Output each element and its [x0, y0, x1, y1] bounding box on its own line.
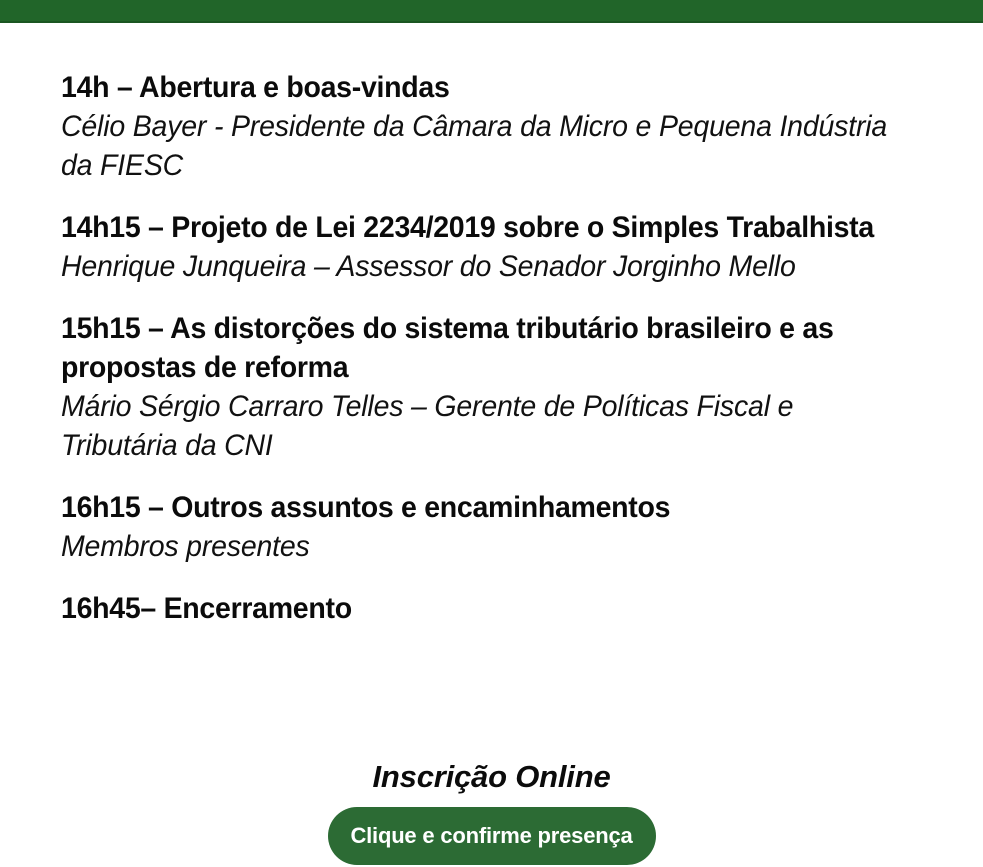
signup-section: Inscrição Online Clique e confirme prese… [0, 758, 983, 865]
confirm-attendance-button[interactable]: Clique e confirme presença [328, 807, 656, 865]
agenda-item-title: 14h15 – Projeto de Lei 2234/2019 sobre o… [61, 208, 897, 247]
agenda-item-speaker: Henrique Junqueira – Assessor do Senador… [61, 247, 897, 286]
agenda-item-speaker: Mário Sérgio Carraro Telles – Gerente de… [61, 387, 897, 465]
agenda-item-speaker: Célio Bayer - Presidente da Câmara da Mi… [61, 107, 897, 185]
agenda-item: 16h45– Encerramento [61, 589, 941, 628]
agenda-item: 14h – Abertura e boas-vindas Célio Bayer… [61, 68, 941, 185]
agenda-list: 14h – Abertura e boas-vindas Célio Bayer… [61, 68, 941, 628]
event-agenda-page: 14h – Abertura e boas-vindas Célio Bayer… [0, 0, 983, 867]
agenda-item-speaker: Membros presentes [61, 527, 897, 566]
signup-title: Inscrição Online [0, 758, 983, 796]
agenda-item-title: 16h45– Encerramento [61, 589, 897, 628]
top-accent-bar [0, 0, 983, 23]
agenda-item-title: 16h15 – Outros assuntos e encaminhamento… [61, 488, 897, 527]
agenda-item-title: 14h – Abertura e boas-vindas [61, 68, 897, 107]
cta-container: Clique e confirme presença [0, 807, 983, 865]
agenda-item: 16h15 – Outros assuntos e encaminhamento… [61, 488, 941, 566]
agenda-item-title: 15h15 – As distorções do sistema tributá… [61, 309, 897, 387]
agenda-item: 14h15 – Projeto de Lei 2234/2019 sobre o… [61, 208, 941, 286]
agenda-item: 15h15 – As distorções do sistema tributá… [61, 309, 941, 465]
